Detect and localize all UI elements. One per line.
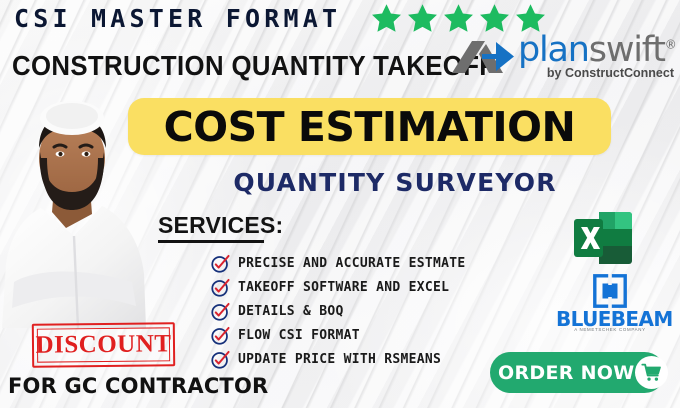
list-item-label: FLOW CSI FORMAT	[238, 328, 360, 343]
list-item: UPDATE PRICE WITH RSMEANS	[210, 348, 466, 371]
list-item-label: TAKEOFF SOFTWARE AND EXCEL	[238, 280, 449, 295]
shopping-cart-icon	[641, 362, 662, 383]
planswift-logo: planswift® by ConstructConnect	[452, 36, 674, 82]
planswift-word-plan: plan	[518, 30, 589, 70]
planswift-wordmark: planswift®	[518, 30, 676, 70]
bluebeam-mark-icon	[593, 274, 627, 308]
services-underline	[158, 240, 264, 243]
check-circle-icon	[210, 325, 231, 346]
star-icon	[405, 2, 440, 36]
check-circle-icon	[210, 253, 231, 274]
list-item: FLOW CSI FORMAT	[210, 324, 466, 347]
footer-text: FOR GC CONTRACTOR	[8, 374, 268, 398]
list-item: PRECISE AND ACCURATE ESTMATE	[210, 252, 466, 275]
check-circle-icon	[210, 349, 231, 370]
bluebeam-tagline: A NEMETSCHEK COMPANY	[556, 327, 664, 332]
check-circle-icon	[210, 277, 231, 298]
list-item: TAKEOFF SOFTWARE AND EXCEL	[210, 276, 466, 299]
discount-label: DISCOUNT	[35, 330, 171, 359]
discount-stamp: DISCOUNT	[32, 322, 175, 367]
order-now-button[interactable]: ORDER NOW	[490, 352, 665, 393]
list-item-label: UPDATE PRICE WITH RSMEANS	[238, 352, 441, 367]
cost-estimation-banner: COST ESTIMATION	[128, 98, 611, 155]
bluebeam-logo: BLUEBEAM A NEMETSCHEK COMPANY	[556, 274, 664, 336]
star-icon	[477, 2, 512, 36]
list-item-label: PRECISE AND ACCURATE ESTMATE	[238, 256, 466, 271]
list-item: DETAILS & BOQ	[210, 300, 466, 323]
banner-title: COST ESTIMATION	[164, 103, 576, 151]
planswift-mark-icon	[452, 40, 520, 74]
check-circle-icon	[210, 301, 231, 322]
star-icon	[369, 2, 404, 36]
microsoft-excel-logo-icon	[573, 206, 633, 270]
cart-icon-container	[635, 356, 668, 389]
page-title: CSI MASTER FORMAT	[14, 4, 341, 33]
gig-thumbnail-poster: CSI MASTER FORMAT CONSTRUCTION QUANTITY …	[0, 0, 680, 408]
star-icon	[441, 2, 476, 36]
services-list: PRECISE AND ACCURATE ESTMATE TAKEOFF SOF…	[210, 252, 466, 372]
subheading-construction-quantity-takeoff: CONSTRUCTION QUANTITY TAKEOFF	[12, 50, 495, 82]
portrait-photo	[0, 96, 154, 328]
order-now-label: ORDER NOW	[490, 362, 635, 384]
planswift-word-swift: swift	[589, 30, 665, 70]
planswift-tagline: by ConstructConnect	[547, 66, 674, 80]
services-heading: SERVICES:	[158, 212, 283, 239]
list-item-label: DETAILS & BOQ	[238, 304, 344, 319]
registered-trademark-icon: ®	[665, 37, 676, 51]
